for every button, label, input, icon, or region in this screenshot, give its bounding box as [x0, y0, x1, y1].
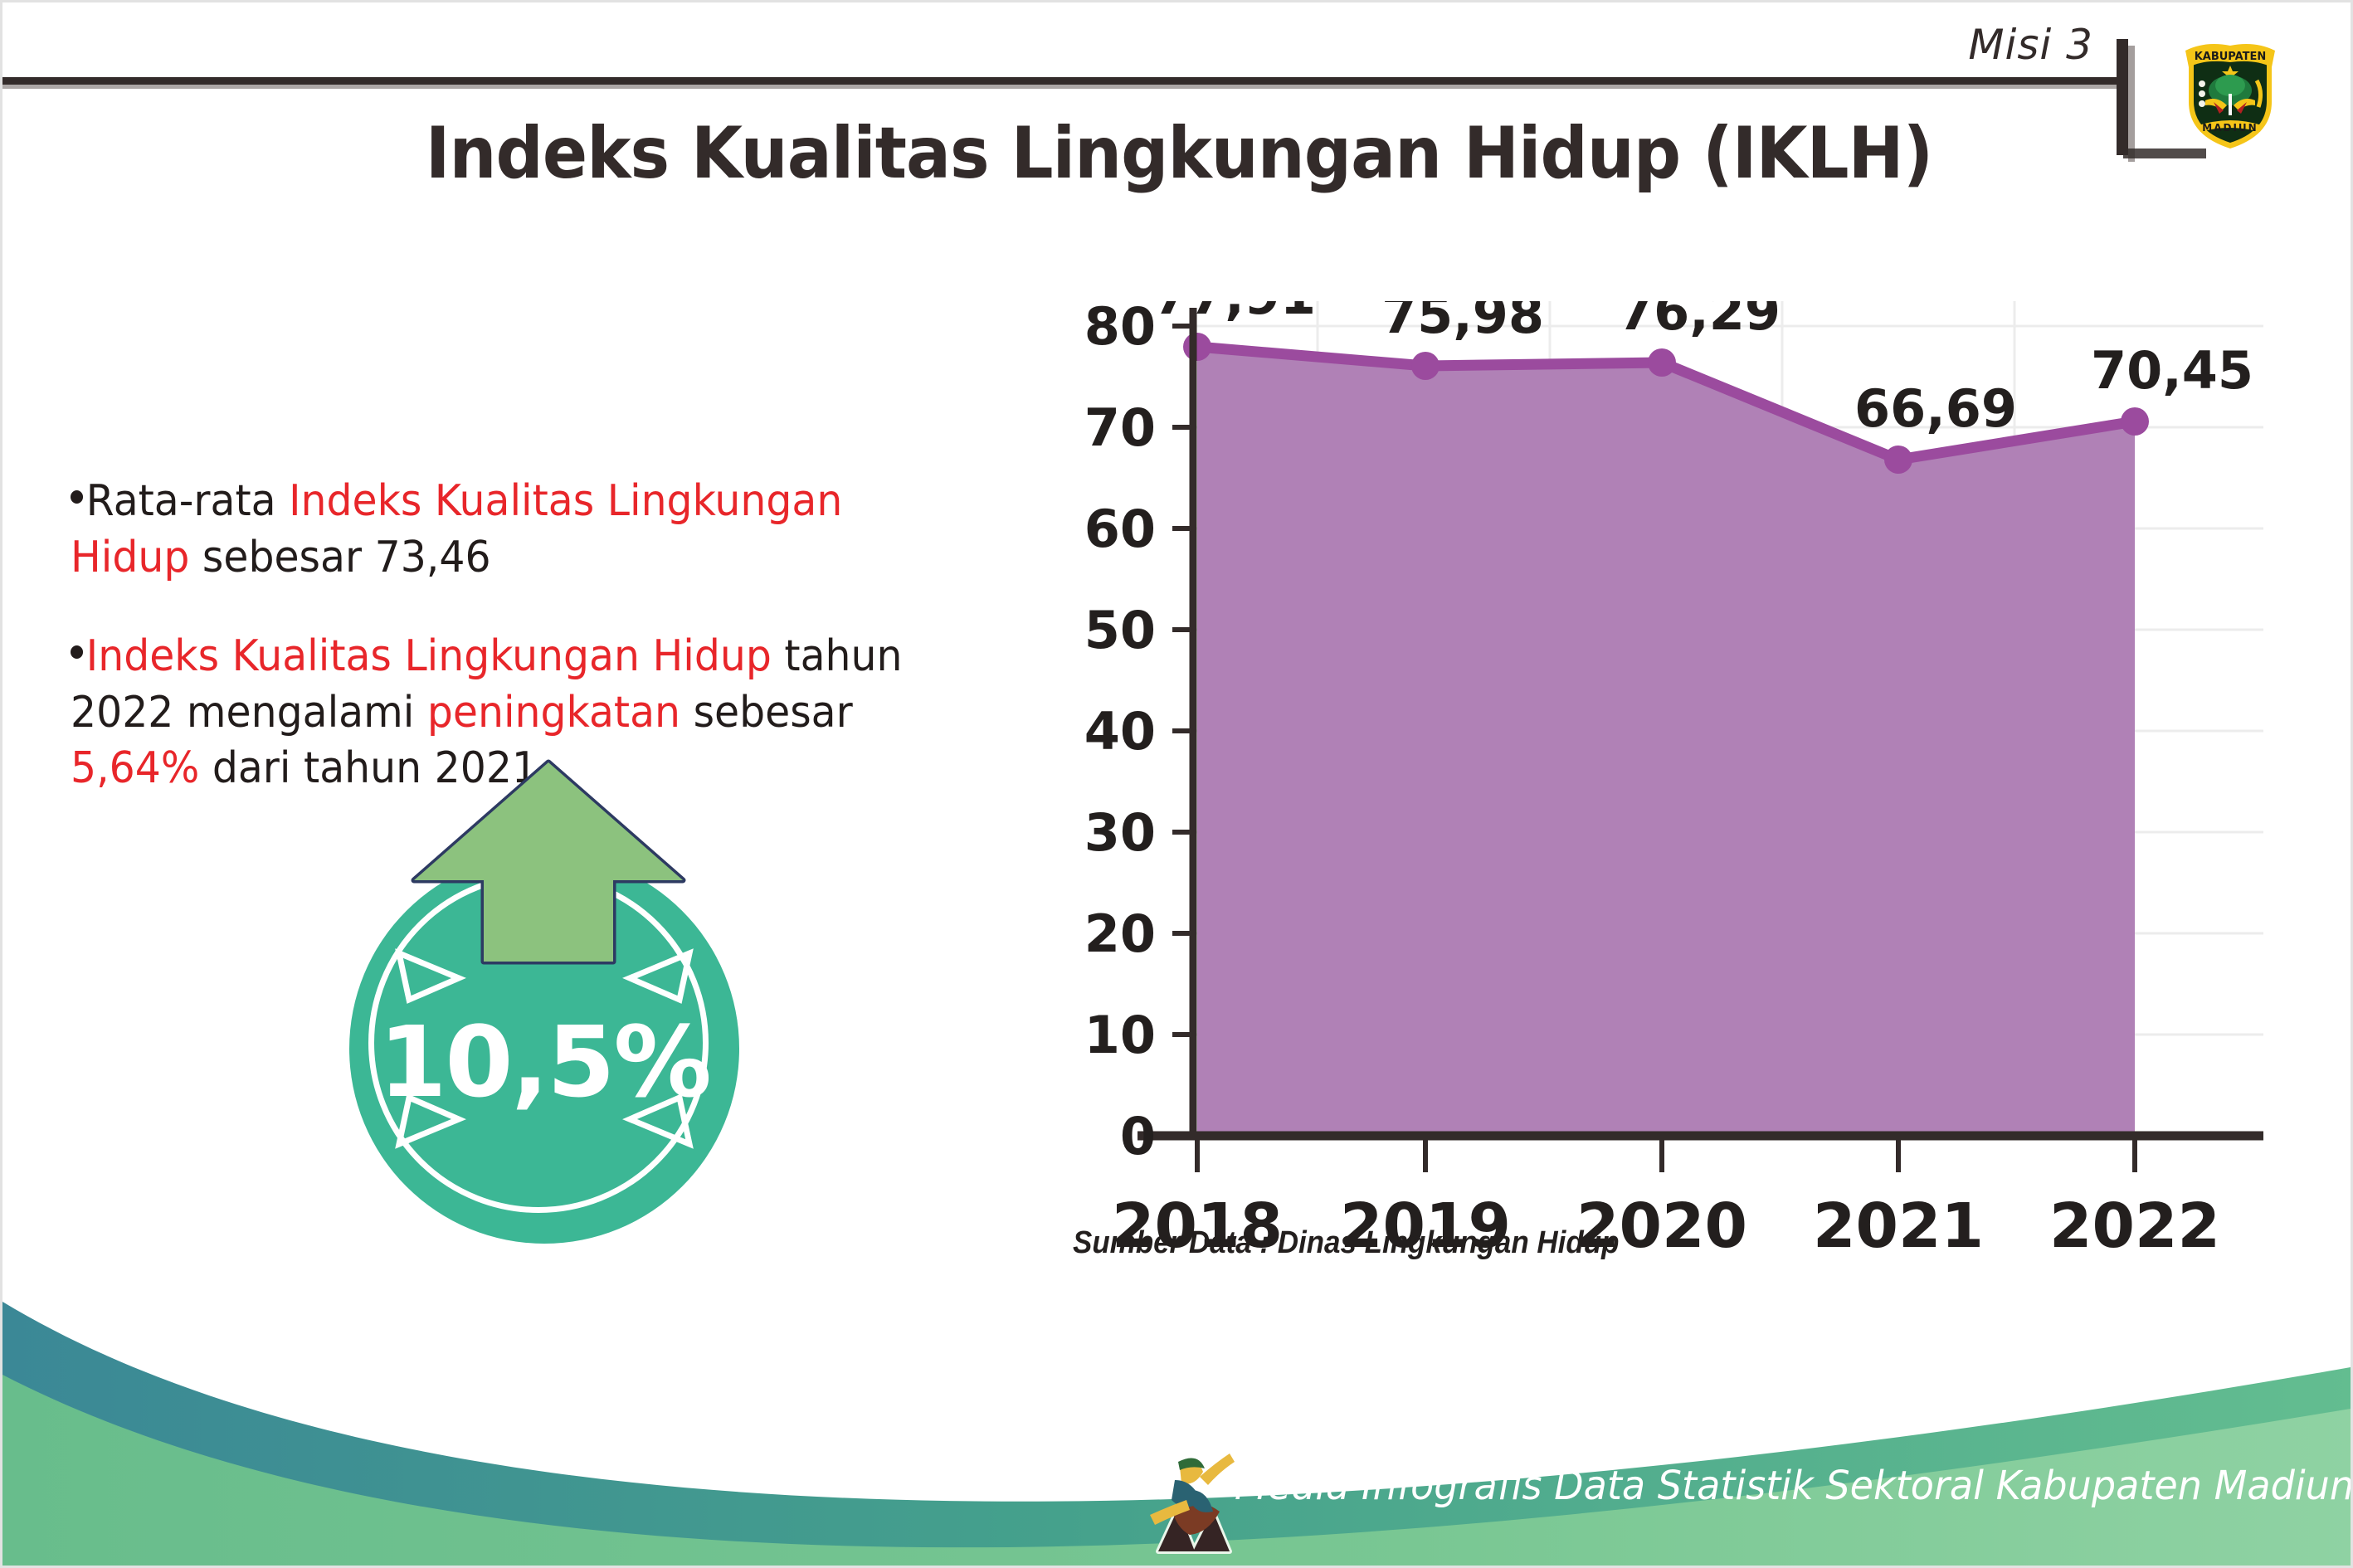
svg-text:20: 20 [1084, 903, 1156, 964]
svg-text:80: 80 [1084, 301, 1156, 357]
chart-source-caption: Sumber Data : Dinas Lingkungan Hidup [1073, 1225, 1619, 1261]
svg-text:60: 60 [1084, 499, 1156, 559]
header-divider-shadow [2, 85, 2123, 89]
svg-text:70: 70 [1084, 397, 1156, 458]
bullet-2-mid-2: sebesar [680, 688, 853, 738]
bullet-dot-icon [71, 490, 83, 504]
page-title: Indeks Kualitas Lingkungan Hidup (IKLH) [85, 112, 2273, 195]
bullet-1-lead: Rata-rata [86, 476, 289, 526]
bullet-1-tail: sebesar 73,46 [189, 533, 490, 582]
infographic-slide: Misi 3 KABUPATEN MADIUN Indeks Kualitas … [0, 0, 2353, 1568]
increase-badge: 10,5% [333, 756, 781, 1220]
area-fill [1197, 347, 2135, 1136]
svg-text:70,45: 70,45 [2091, 340, 2253, 401]
header-divider-line [2, 77, 2123, 85]
svg-text:75,98: 75,98 [1381, 301, 1544, 345]
svg-text:KABUPATEN: KABUPATEN [2195, 51, 2267, 63]
svg-text:2022: 2022 [2049, 1191, 2220, 1262]
bullet-item-average: Rata-rata Indeks Kualitas Lingkungan Hid… [71, 474, 921, 586]
bullet-2-highlight-3: 5,64% [71, 743, 199, 793]
svg-text:40: 40 [1084, 701, 1156, 762]
svg-text:10: 10 [1084, 1005, 1156, 1065]
svg-text:30: 30 [1084, 802, 1156, 863]
y-tick-labels: 80 70 60 50 40 30 20 10 0 [1084, 301, 1156, 1166]
svg-text:76,29: 76,29 [1618, 301, 1781, 342]
x-tick-marks [1197, 1136, 2135, 1172]
svg-text:66,69: 66,69 [1854, 378, 2017, 439]
misi-label: Misi 3 [1968, 21, 2093, 69]
svg-text:2021: 2021 [1813, 1191, 1984, 1262]
badge-value: 10,5% [349, 1005, 739, 1119]
iklh-area-chart: 80 70 60 50 40 30 20 10 0 2018 2019 2020… [986, 301, 2280, 1297]
footer-caption: Media Infografis Data Statistik Sektoral… [1235, 1463, 2353, 1509]
up-arrow-icon [391, 756, 706, 971]
svg-text:77,91: 77,91 [1153, 301, 1316, 326]
bullet-2-highlight-1: Indeks Kualitas Lingkungan Hidup [86, 631, 772, 681]
svg-text:50: 50 [1084, 600, 1156, 660]
dancer-logo [1143, 1442, 1241, 1558]
bullet-dot-icon [71, 645, 83, 659]
svg-text:0: 0 [1120, 1106, 1156, 1166]
bullet-2-highlight-2: peningkatan [427, 688, 680, 738]
